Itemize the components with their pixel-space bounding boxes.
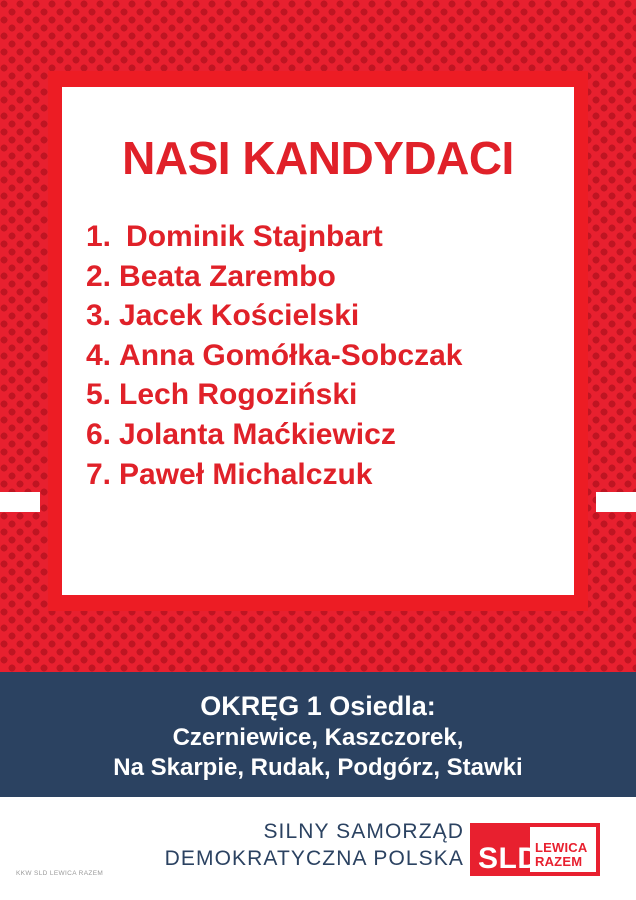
slogan-line-1: SILNY SAMORZĄD [165,819,464,846]
list-item: 1. Dominik Stajnbart [86,217,556,257]
candidates-card: NASI KANDYDACI 1. Dominik Stajnbart 2. B… [62,87,574,595]
campaign-poster: NASI KANDYDACI 1. Dominik Stajnbart 2. B… [0,0,636,900]
logo-lewica-razem-text: LEWICA RAZEM [535,841,587,869]
candidate-number: 1. [86,217,111,257]
list-item: 7. Paweł Michalczuk [86,455,556,495]
candidate-number: 6. [86,415,111,455]
candidate-name: Dominik Stajnbart [126,217,383,257]
logo-razem-line: RAZEM [535,855,587,869]
candidate-name: Paweł Michalczuk [119,455,372,495]
district-neighbourhoods-line-1: Czerniewice, Kaszczorek, [0,723,636,753]
candidate-number: 3. [86,296,111,336]
candidate-name: Anna Gomółka-Sobczak [119,336,462,376]
list-item: 2. Beata Zarembo [86,257,556,297]
committee-attribution: KKW SLD LEWICA RAZEM [16,870,103,877]
candidate-number: 5. [86,375,111,415]
candidates-list: 1. Dominik Stajnbart 2. Beata Zarembo 3.… [86,217,556,494]
list-item: 5. Lech Rogoziński [86,375,556,415]
candidate-name: Beata Zarembo [119,257,336,297]
candidate-number: 2. [86,257,111,297]
list-item: 3. Jacek Kościelski [86,296,556,336]
right-edge-tab [596,492,636,512]
candidate-name: Jacek Kościelski [119,296,359,336]
candidate-number: 7. [86,455,111,495]
district-heading: OKRĘG 1 Osiedla: [0,689,636,723]
logo-lewica-line: LEWICA [535,841,587,855]
candidate-name: Jolanta Maćkiewicz [119,415,396,455]
list-item: 6. Jolanta Maćkiewicz [86,415,556,455]
logo-white-panel: LEWICA RAZEM [530,827,596,872]
slogan-line-2: DEMOKRATYCZNA POLSKA [165,846,464,873]
sld-lewica-razem-logo: SLD LEWICA RAZEM [470,823,600,876]
slogan: SILNY SAMORZĄD DEMOKRATYCZNA POLSKA [165,819,464,873]
candidate-name: Lech Rogoziński [119,375,357,415]
district-neighbourhoods-line-2: Na Skarpie, Rudak, Podgórz, Stawki [0,753,636,783]
district-band: OKRĘG 1 Osiedla: Czerniewice, Kaszczorek… [0,672,636,797]
left-edge-tab [0,492,40,512]
page-title: NASI KANDYDACI [62,135,574,181]
list-item: 4. Anna Gomółka-Sobczak [86,336,556,376]
candidate-number: 4. [86,336,111,376]
